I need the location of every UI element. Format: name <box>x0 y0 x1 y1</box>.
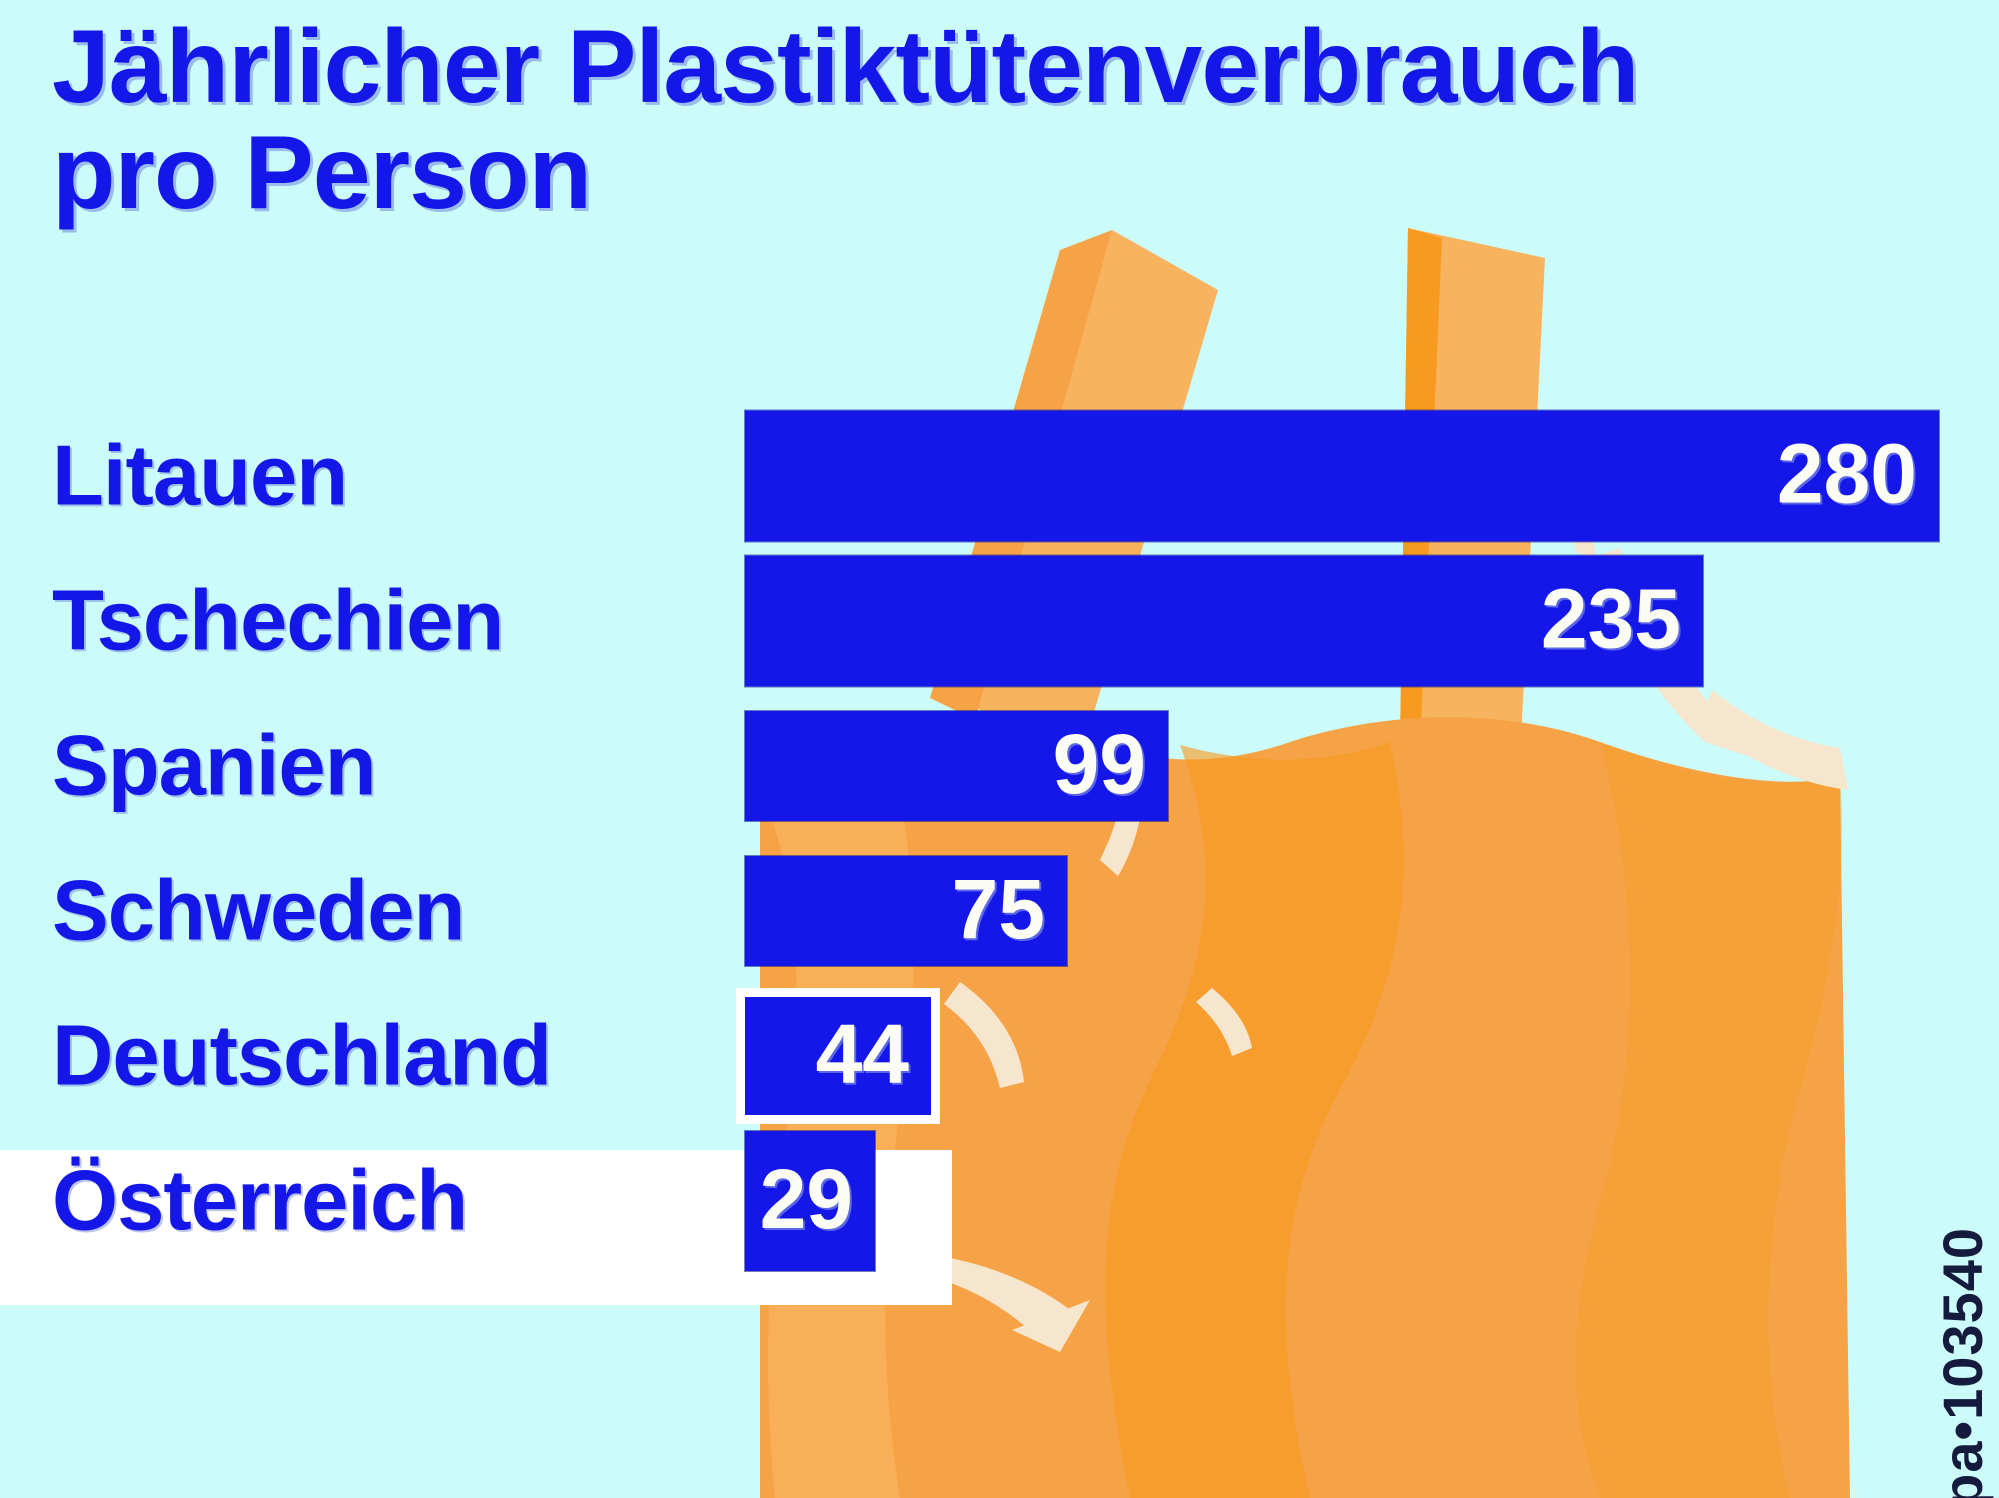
chart-row-tschechien: Tschechien 235 <box>0 548 1999 693</box>
bar-oesterreich: 29 <box>745 1131 875 1271</box>
chart-row-litauen: Litauen 280 <box>0 403 1999 548</box>
bar-schweden: 75 <box>745 856 1067 966</box>
infographic-root: Jährlicher Plastiktütenverbrauch pro Per… <box>0 0 1999 1498</box>
bar-tschechien: 235 <box>745 555 1703 686</box>
bar-value-litauen: 280 <box>1777 432 1939 520</box>
page-title: Jährlicher Plastiktütenverbrauch pro Per… <box>52 14 1652 226</box>
chart-row-oesterreich: Österreich 29 <box>0 1128 1999 1273</box>
bar-value-deutschland: 44 <box>816 1012 931 1100</box>
bar-deutschland: 44 <box>736 988 940 1124</box>
row-label-spanien: Spanien <box>52 723 376 808</box>
bar-value-spanien: 99 <box>1053 722 1168 810</box>
row-label-litauen: Litauen <box>52 433 347 518</box>
bar-spanien: 99 <box>745 711 1168 821</box>
row-label-deutschland: Deutschland <box>52 1013 551 1098</box>
row-label-schweden: Schweden <box>52 868 464 953</box>
row-label-oesterreich: Österreich <box>52 1158 467 1243</box>
bar-litauen: 280 <box>745 410 1939 541</box>
bar-value-schweden: 75 <box>952 867 1067 955</box>
chart-row-spanien: Spanien 99 <box>0 693 1999 838</box>
agency-credit: pa•103540 <box>1930 1227 1995 1498</box>
row-label-tschechien: Tschechien <box>52 578 503 663</box>
bar-value-oesterreich: 29 <box>760 1157 875 1245</box>
chart-row-schweden: Schweden 75 <box>0 838 1999 983</box>
bar-value-tschechien: 235 <box>1541 577 1703 665</box>
chart-row-deutschland: Deutschland 44 <box>0 983 1999 1128</box>
